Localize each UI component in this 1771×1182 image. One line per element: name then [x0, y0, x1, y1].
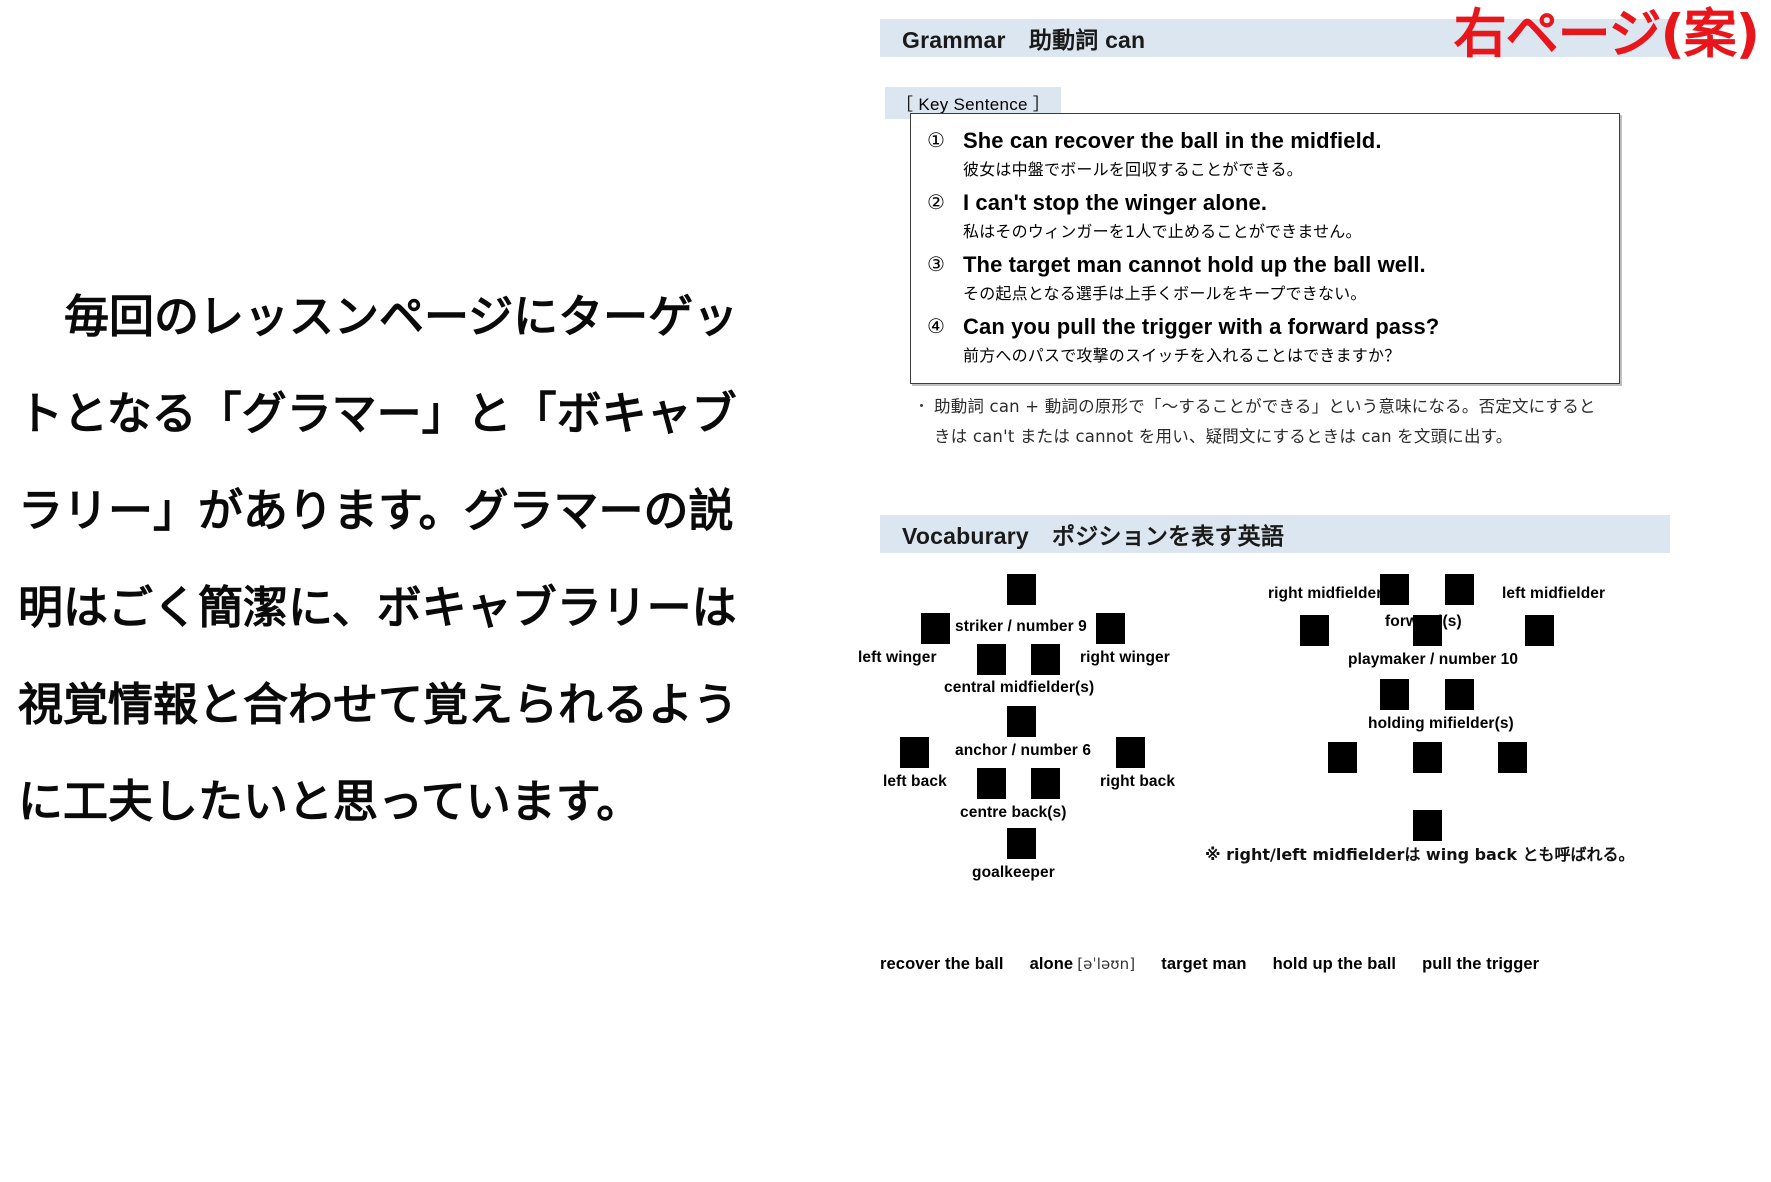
- key-sentence-item: ② I can't stop the winger alone. 私はそのウィン…: [921, 188, 1609, 245]
- player-marker-forward-2: [1445, 574, 1474, 605]
- vocabulary-section-label: Vocaburary ポジションを表す英語: [880, 517, 1284, 551]
- word-list-item: recover the ball: [880, 955, 1004, 974]
- page-title: 右ページ(案): [1454, 4, 1759, 66]
- position-label-goalkeeper: goalkeeper: [972, 864, 1055, 882]
- player-marker-left-midfielder: [1525, 615, 1554, 646]
- grammar-note-line-1: 助動詞 can + 動詞の原形で「〜することができる」という意味になる。否定文に…: [934, 392, 1596, 422]
- key-sentence-number: ③: [921, 250, 963, 280]
- position-label-right-winger: right winger: [1080, 649, 1170, 667]
- player-marker-goalkeeper: [1413, 810, 1442, 841]
- player-marker-striker: [1007, 574, 1036, 605]
- word-list-item: hold up the ball: [1273, 955, 1397, 974]
- key-sentence-english: I can't stop the winger alone.: [963, 188, 1609, 218]
- commentary-line-6: に工夫したいと思っています。: [18, 753, 860, 850]
- player-marker-back-2: [1413, 742, 1442, 773]
- position-label-left-winger: left winger: [858, 649, 937, 667]
- commentary-line-1: 毎回のレッスンページにターゲッ: [18, 268, 860, 365]
- grammar-section-label: Grammar 助動詞 can: [880, 21, 1145, 55]
- formation-footnote: ※ right/left midfielderは wing back とも呼ばれ…: [1205, 841, 1635, 865]
- commentary-line-4: 明はごく簡潔に、ボキャブラリーは: [18, 559, 860, 656]
- player-marker-left-back: [900, 737, 929, 768]
- player-marker-holding-midfielder-2: [1445, 679, 1474, 710]
- player-marker-right-midfielder: [1300, 615, 1329, 646]
- key-sentence-number: ①: [921, 126, 963, 156]
- key-sentence-japanese: 前方へのパスで攻撃のスイッチを入れることはできますか？: [963, 342, 1609, 369]
- key-sentence-item: ④ Can you pull the trigger with a forwar…: [921, 312, 1609, 369]
- right-page-mockup: 右ページ(案) Grammar 助動詞 can ［ Key Sentence ］…: [880, 0, 1771, 1182]
- vocabulary-section-header: Vocaburary ポジションを表す英語: [880, 515, 1670, 553]
- player-marker-central-midfielder-2: [1031, 644, 1060, 675]
- key-sentence-japanese: その起点となる選手は上手くボールをキープできない。: [963, 280, 1609, 307]
- position-label-central-midfielders: central midfielder(s): [944, 679, 1094, 697]
- player-marker-playmaker: [1413, 615, 1442, 646]
- player-marker-back-3: [1498, 742, 1527, 773]
- position-label-playmaker: playmaker / number 10: [1348, 651, 1518, 669]
- position-label-right-back: right back: [1100, 773, 1175, 791]
- word-text: pull the trigger: [1422, 955, 1539, 973]
- position-label-holding-midfielders: holding mifielder(s): [1368, 715, 1514, 733]
- key-sentence-english: The target man cannot hold up the ball w…: [963, 250, 1609, 280]
- key-sentence-item: ① She can recover the ball in the midfie…: [921, 126, 1609, 183]
- commentary-line-5: 視覚情報と合わせて覚えられるよう: [18, 656, 860, 753]
- position-label-anchor: anchor / number 6: [955, 742, 1091, 760]
- word-text: hold up the ball: [1273, 955, 1397, 973]
- formation-diagram-left: striker / number 9 left winger right win…: [880, 560, 1210, 890]
- word-list-item: target man: [1161, 955, 1246, 974]
- key-sentence-texts: She can recover the ball in the midfield…: [963, 126, 1609, 183]
- player-marker-central-midfielder-1: [977, 644, 1006, 675]
- word-list-item: alone[əˈləʊn]: [1030, 955, 1136, 974]
- commentary-line-2: トとなる「グラマー」と「ボキャブ: [18, 365, 860, 462]
- formation-diagram-right: forward(s) right midfielder left midfiel…: [1280, 552, 1610, 882]
- commentary-line-3: ラリー」があります。グラマーの説: [18, 462, 860, 559]
- player-marker-right-back: [1116, 737, 1145, 768]
- position-label-striker: striker / number 9: [955, 618, 1087, 636]
- key-sentence-japanese: 私はそのウィンガーを1人で止めることができません。: [963, 218, 1609, 245]
- player-marker-centre-back-1: [977, 768, 1006, 799]
- grammar-note-line-2: きは can't または cannot を用い、疑問文にするときは can を文…: [934, 422, 1596, 452]
- key-sentence-box: ① She can recover the ball in the midfie…: [910, 113, 1620, 384]
- key-sentence-texts: I can't stop the winger alone. 私はそのウィンガー…: [963, 188, 1609, 245]
- bullet-icon: ・: [908, 392, 934, 422]
- key-sentence-number: ②: [921, 188, 963, 218]
- key-sentence-english: Can you pull the trigger with a forward …: [963, 312, 1609, 342]
- player-marker-forward-1: [1380, 574, 1409, 605]
- player-marker-anchor: [1007, 706, 1036, 737]
- key-sentence-english: She can recover the ball in the midfield…: [963, 126, 1609, 156]
- japanese-commentary-text: 毎回のレッスンページにターゲッ トとなる「グラマー」と「ボキャブ ラリー」があり…: [18, 268, 860, 850]
- key-sentence-texts: The target man cannot hold up the ball w…: [963, 250, 1609, 307]
- grammar-explanation-note: ・ 助動詞 can + 動詞の原形で「〜することができる」という意味になる。否定…: [908, 392, 1588, 452]
- left-commentary-pane: 毎回のレッスンページにターゲッ トとなる「グラマー」と「ボキャブ ラリー」があり…: [0, 0, 880, 1182]
- key-sentence-item: ③ The target man cannot hold up the ball…: [921, 250, 1609, 307]
- key-sentence-number: ④: [921, 312, 963, 342]
- position-label-right-midfielder: right midfielder: [1268, 585, 1382, 603]
- word-ipa: [əˈləʊn]: [1077, 955, 1135, 973]
- position-label-left-back: left back: [883, 773, 947, 791]
- player-marker-left-winger: [921, 613, 950, 644]
- key-sentence-texts: Can you pull the trigger with a forward …: [963, 312, 1609, 369]
- position-label-left-midfielder: left midfielder: [1502, 585, 1605, 603]
- player-marker-centre-back-2: [1031, 768, 1060, 799]
- word-text: target man: [1161, 955, 1246, 973]
- grammar-note-body: 助動詞 can + 動詞の原形で「〜することができる」という意味になる。否定文に…: [934, 392, 1596, 452]
- player-marker-holding-midfielder-1: [1380, 679, 1409, 710]
- word-text: recover the ball: [880, 955, 1004, 973]
- player-marker-back-1: [1328, 742, 1357, 773]
- player-marker-right-winger: [1096, 613, 1125, 644]
- vocabulary-word-list: recover the ball alone[əˈləʊn] target ma…: [880, 955, 1670, 974]
- word-text: alone: [1030, 955, 1074, 973]
- word-list-item: pull the trigger: [1422, 955, 1539, 974]
- key-sentence-japanese: 彼女は中盤でボールを回収することができる。: [963, 156, 1609, 183]
- position-label-centre-backs: centre back(s): [960, 804, 1067, 822]
- player-marker-goalkeeper: [1007, 828, 1036, 859]
